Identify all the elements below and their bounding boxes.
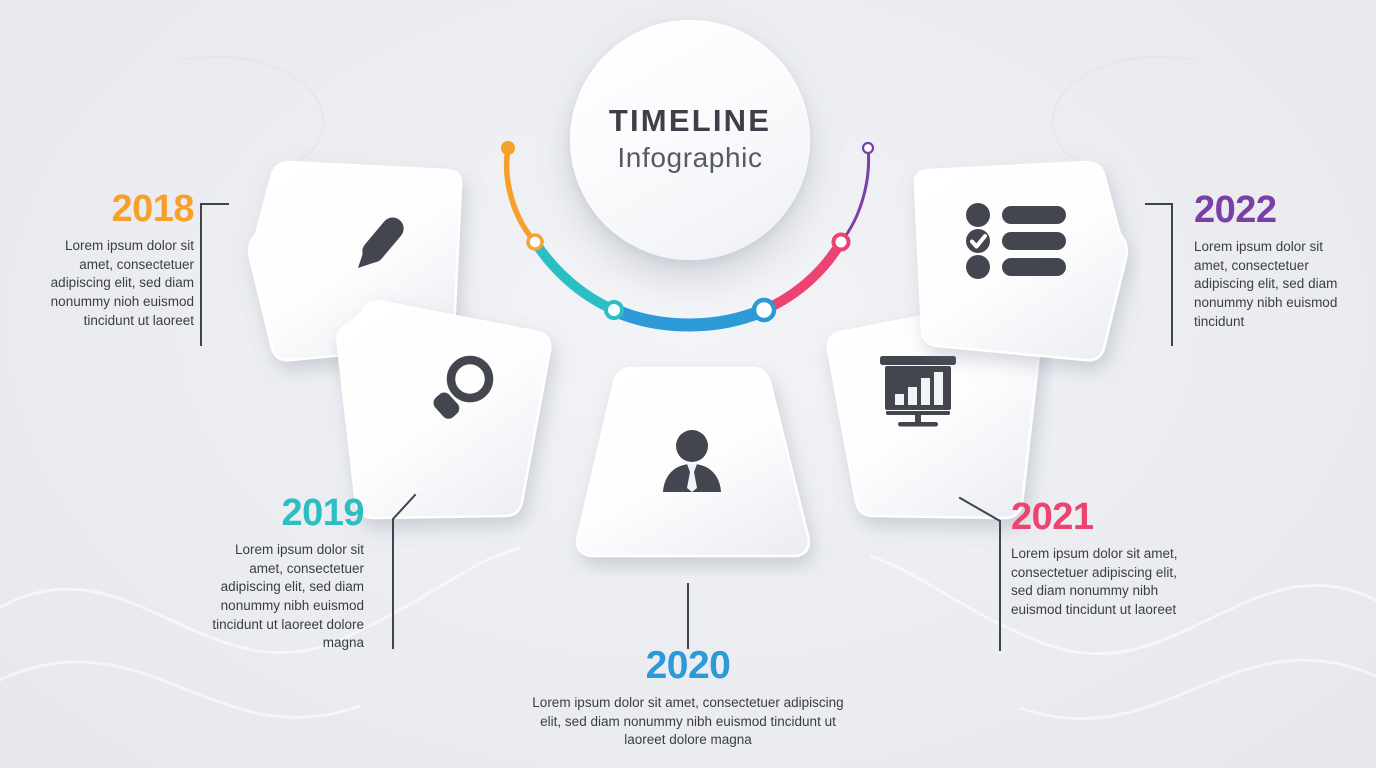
arc-node-2020	[754, 300, 774, 320]
page-title: TIMELINE	[609, 105, 771, 136]
milestone-body-2022: Lorem ipsum dolor sit amet, consectetuer…	[1194, 238, 1340, 331]
arc-node-teal	[528, 235, 542, 249]
milestone-body-2018: Lorem ipsum dolor sit amet, consectetuer…	[44, 237, 194, 330]
card-shape-2019	[326, 290, 588, 558]
connector-2022	[1146, 204, 1172, 345]
card-shape-2022	[870, 148, 1140, 388]
milestone-text-2019: 2019 Lorem ipsum dolor sit amet, consect…	[206, 494, 364, 653]
arc-segment-2022	[841, 148, 869, 242]
milestone-body-2020: Lorem ipsum dolor sit amet, consectetuer…	[520, 694, 856, 750]
arc-segment-2020	[614, 310, 764, 325]
connector-2018	[201, 204, 228, 345]
milestone-text-2021: 2021 Lorem ipsum dolor sit amet, consect…	[1011, 498, 1181, 620]
milestone-year-2018: 2018	[44, 190, 194, 228]
milestone-year-2021: 2021	[1011, 498, 1181, 536]
milestone-text-2022: 2022 Lorem ipsum dolor sit amet, consect…	[1194, 191, 1340, 331]
arc-node-2021	[834, 235, 849, 250]
milestone-text-2018: 2018 Lorem ipsum dolor sit amet, consect…	[44, 190, 194, 330]
milestone-body-2019: Lorem ipsum dolor sit amet, consectetuer…	[206, 541, 364, 653]
milestone-card-2019[interactable]	[326, 290, 588, 558]
infographic-canvas: TIMELINE Infographic 2018 L	[0, 0, 1376, 768]
milestone-body-2021: Lorem ipsum dolor sit amet, consectetuer…	[1011, 545, 1181, 620]
milestone-year-2022: 2022	[1194, 191, 1340, 229]
milestone-card-2022[interactable]	[870, 148, 1140, 388]
milestone-year-2019: 2019	[206, 494, 364, 532]
milestone-year-2020: 2020	[520, 646, 856, 685]
arc-segment-2018	[507, 148, 535, 242]
arc-node-2019	[606, 302, 622, 318]
center-badge: TIMELINE Infographic	[570, 20, 810, 260]
page-subtitle: Infographic	[617, 140, 762, 175]
milestone-text-2020: 2020 Lorem ipsum dolor sit amet, consect…	[520, 646, 856, 750]
